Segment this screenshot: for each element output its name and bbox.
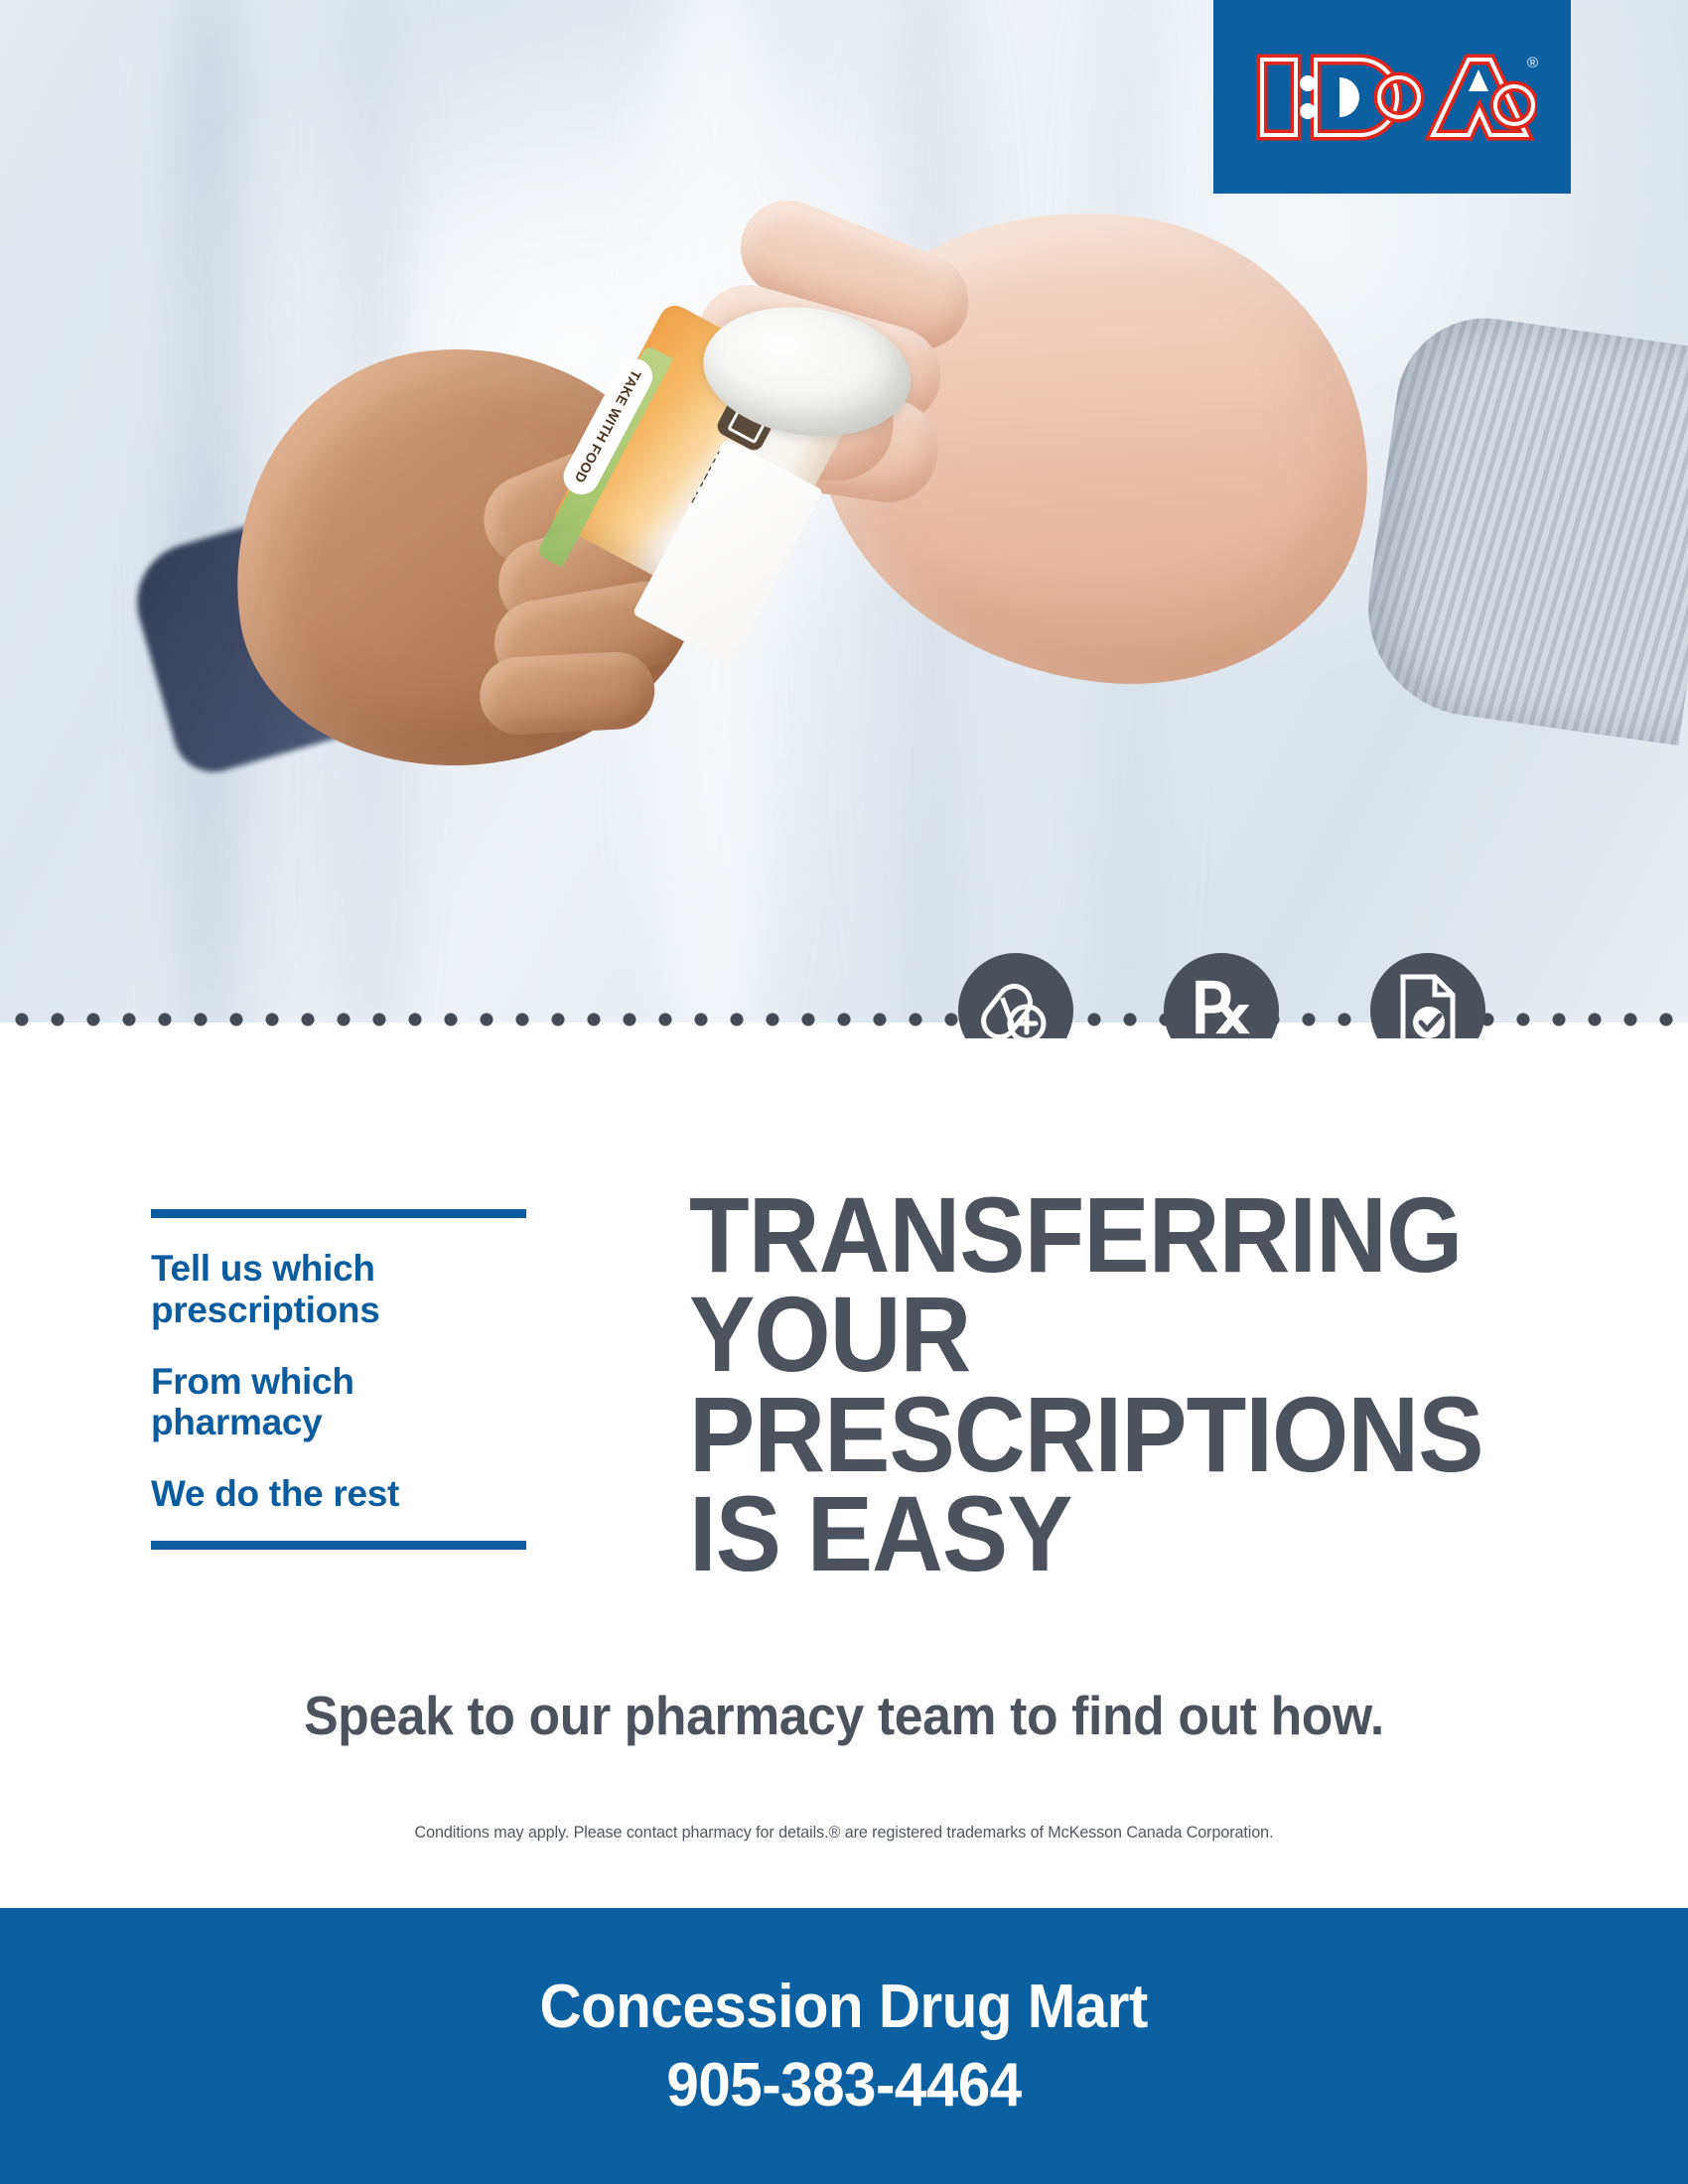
headline-line-3: PRESCRIPTIONS [689,1385,1475,1484]
divider-with-icons: ℞ [0,999,1688,1038]
knit-sleeve [1354,307,1688,746]
list-item: Tell us which prescriptions [151,1248,528,1331]
finger [478,650,656,737]
page-title: TRANSFERRING YOUR PRESCRIPTIONS IS EASY [689,1185,1475,1584]
rx-glyph: ℞ [1192,976,1252,1045]
rx-direction-1: TAKE 1 TA [633,439,706,546]
legal-fineprint: Conditions may apply. Please contact pha… [43,1823,1646,1843]
list-item: From which pharmacy [151,1361,528,1444]
ida-logo-mark: ® [1248,48,1536,147]
tagline: Speak to our pharmacy team to find out h… [51,1684,1637,1747]
rx-direction-3: (1A) INVOKAN [633,439,668,526]
rx-direction-2: ONLY 2 WEEKS [633,439,687,536]
steps-bottom-rule [151,1541,526,1550]
store-phone[interactable]: 905-383-4464 [666,2050,1021,2120]
poster: TAKE WITH FOOD 1867845 TAKE 1 TA ONLY 2 … [0,0,1688,2184]
steps-items: Tell us which prescriptions From which p… [151,1218,528,1515]
headline-line-1: TRANSFERRING [689,1185,1475,1285]
headline-line-4: IS EASY [689,1484,1475,1583]
content-area: Tell us which prescriptions From which p… [0,1038,1688,1908]
rx-number: 1867845 [650,442,725,556]
registered-trademark-icon: ® [1527,56,1538,70]
ida-logo: ® [1213,0,1571,194]
store-footer: Concession Drug Mart 905-383-4464 [0,1908,1688,2184]
steps-list: Tell us which prescriptions From which p… [151,1209,528,1550]
rx-label-lines: 1867845 TAKE 1 TA ONLY 2 WEEKS (1A) INVO… [633,439,726,556]
store-name: Concession Drug Mart [540,1972,1148,2042]
list-item: We do the rest [151,1473,528,1515]
steps-top-rule [151,1209,526,1218]
headline-line-2: YOUR [689,1285,1475,1384]
